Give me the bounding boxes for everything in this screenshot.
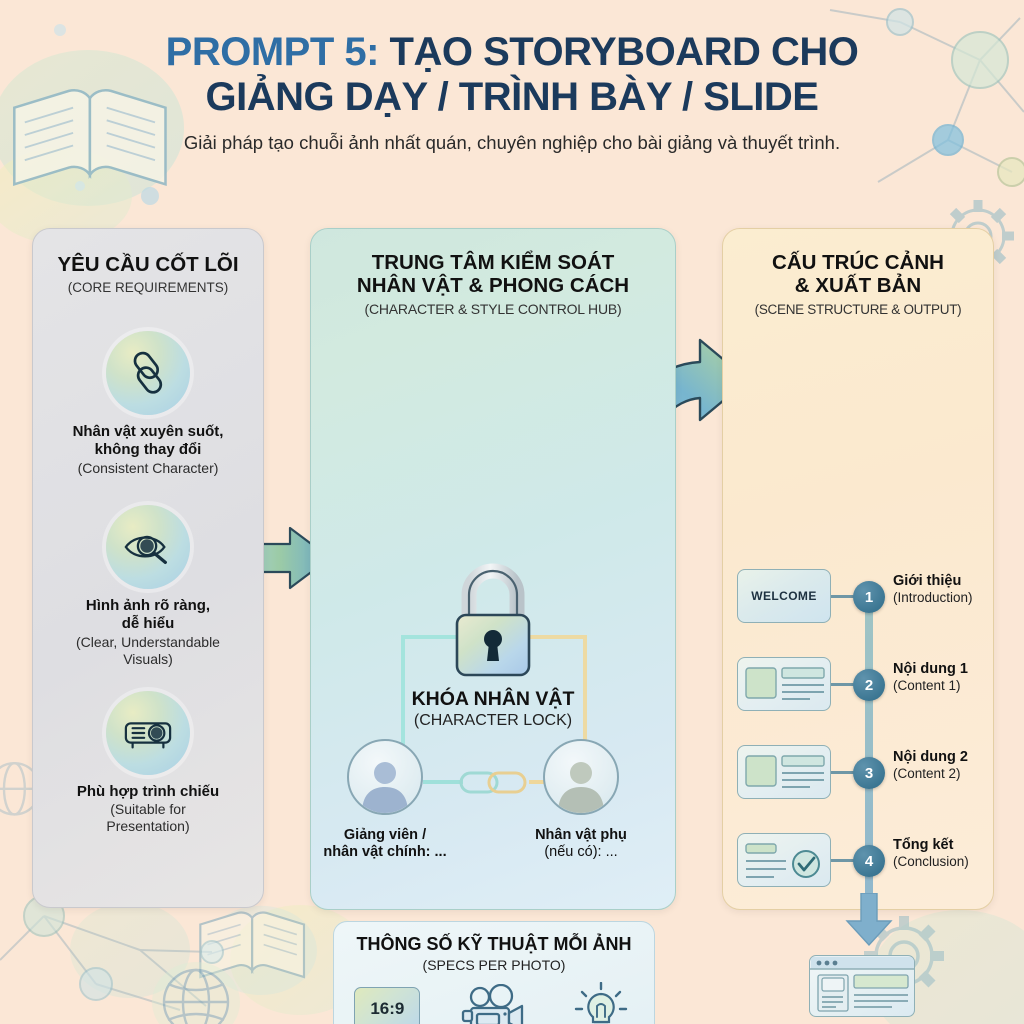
requirement-item-presentation[interactable]: Phù hợp trình chiếu (Suitable for Presen… bbox=[33, 691, 263, 835]
avatar[interactable] bbox=[543, 739, 619, 815]
timeline-label: Giới thiệu (Introduction) bbox=[893, 573, 1001, 605]
welcome-thumbnail-text: WELCOME bbox=[751, 589, 816, 603]
requirement-item-consistent-character[interactable]: Nhân vật xuyên suốt, không thay đổi (Con… bbox=[33, 331, 263, 477]
timeline-label: Tổng kết (Conclusion) bbox=[893, 837, 1001, 869]
page-title-line1: PROMPT 5: TẠO STORYBOARD CHO bbox=[0, 30, 1024, 75]
character-lock-block: KHÓA NHÂN VẬT (CHARACTER LOCK) bbox=[311, 561, 675, 730]
timeline-down-arrow-icon bbox=[839, 893, 899, 947]
timeline-label: Nội dung 1 (Content 1) bbox=[893, 661, 1001, 693]
timeline-step-number: 4 bbox=[853, 845, 885, 877]
core-requirements-panel: YÊU CẦU CỐT LÕI (CORE REQUIREMENTS) Nhân… bbox=[32, 228, 264, 908]
right-panel-title-line2: & XUẤT BẢN bbox=[723, 274, 993, 297]
spec-item-style[interactable]: Phong cách cinematic – clean – dễ đọc bbox=[441, 981, 548, 1024]
requirement-label-vi-2: không thay đổi bbox=[33, 441, 263, 459]
center-panel-subtitle: (CHARACTER & STYLE CONTROL HUB) bbox=[311, 302, 675, 318]
spec-item-aspect-ratio[interactable]: 16:9 16:9 (Landscape) bbox=[334, 981, 441, 1024]
timeline-label-en: (Conclusion) bbox=[893, 854, 1001, 870]
header: PROMPT 5: TẠO STORYBOARD CHO GIẢNG DẠY /… bbox=[0, 30, 1024, 154]
timeline-label-vi: Tổng kết bbox=[893, 837, 1001, 854]
timeline-label-en: (Introduction) bbox=[893, 590, 1001, 606]
character-caption-secondary-line1: Nhân vật phụ bbox=[501, 827, 661, 844]
checkmark-layout-icon bbox=[738, 834, 831, 887]
content-slide-thumbnail bbox=[737, 657, 831, 711]
person-avatar-icon bbox=[355, 753, 415, 813]
specs-per-photo-box: THÔNG SỐ KỸ THUẬT MỖI ẢNH (SPECS PER PHO… bbox=[333, 921, 655, 1024]
person-avatar-icon bbox=[551, 753, 611, 813]
right-panel-title-line1: CẤU TRÚC CẢNH bbox=[723, 251, 993, 274]
specs-subtitle: (SPECS PER PHOTO) bbox=[334, 957, 654, 973]
browser-window-icon bbox=[809, 955, 915, 1017]
character-caption-main: Giảng viên / nhân vật chính: ... bbox=[305, 827, 465, 862]
requirement-label-vi-1: Hình ảnh rõ ràng, bbox=[33, 597, 263, 615]
requirement-label-vi-1: Nhân vật xuyên suốt, bbox=[33, 423, 263, 441]
character-lock-label-en: (CHARACTER LOCK) bbox=[311, 712, 675, 730]
right-panel-subtitle: (SCENE STRUCTURE & OUTPUT) bbox=[723, 302, 993, 317]
content-layout-icon bbox=[738, 746, 831, 799]
eye-magnifier-icon bbox=[106, 505, 190, 589]
aspect-ratio-badge: 16:9 bbox=[354, 987, 420, 1024]
specs-title: THÔNG SỐ KỸ THUẬT MỖI ẢNH bbox=[334, 934, 654, 955]
requirement-label-en-2: Presentation) bbox=[33, 818, 263, 835]
character-style-control-hub-panel: TRUNG TÂM KIỂM SOÁT NHÂN VẬT & PHONG CÁC… bbox=[310, 228, 676, 910]
movie-camera-icon bbox=[441, 981, 548, 1024]
page-subtitle: Giải pháp tạo chuỗi ảnh nhất quán, chuyê… bbox=[0, 132, 1024, 154]
avatar[interactable] bbox=[347, 739, 423, 815]
timeline-label-en: (Content 1) bbox=[893, 678, 1001, 694]
center-panel-title-line2: NHÂN VẬT & PHONG CÁCH bbox=[311, 274, 675, 297]
page-title-accent: PROMPT 5: bbox=[166, 30, 379, 74]
timeline-label: Nội dung 2 (Content 2) bbox=[893, 749, 1001, 781]
requirement-item-clear-visuals[interactable]: Hình ảnh rõ ràng, dễ hiểu (Clear, Unders… bbox=[33, 505, 263, 668]
requirement-label-vi-1: Phù hợp trình chiếu bbox=[33, 783, 263, 801]
character-caption-secondary-line2: (nếu có): ... bbox=[501, 844, 661, 861]
character-caption-main-line2: nhân vật chính: ... bbox=[305, 844, 465, 861]
scene-structure-output-panel: CẤU TRÚC CẢNH & XUẤT BẢN (SCENE STRUCTUR… bbox=[722, 228, 994, 910]
content-slide-thumbnail bbox=[737, 745, 831, 799]
left-panel-subtitle: (CORE REQUIREMENTS) bbox=[33, 280, 263, 295]
timeline-step-number: 2 bbox=[853, 669, 885, 701]
timeline-step-number: 1 bbox=[853, 581, 885, 613]
requirement-label-en-1: (Suitable for bbox=[33, 801, 263, 818]
timeline-label-vi: Giới thiệu bbox=[893, 573, 1001, 590]
character-caption-main-line1: Giảng viên / bbox=[305, 827, 465, 844]
lightbulb-icon bbox=[547, 981, 654, 1024]
timeline-item-content-1[interactable]: 2 Nội dung 1 (Content 1) bbox=[737, 657, 985, 713]
content-layout-icon bbox=[738, 658, 831, 711]
left-panel-title: YÊU CẦU CỐT LÕI bbox=[33, 253, 263, 276]
padlock-icon bbox=[441, 561, 545, 683]
character-caption-secondary: Nhân vật phụ (nếu có): ... bbox=[501, 827, 661, 862]
requirement-label-en-1: (Clear, Understandable bbox=[33, 634, 263, 651]
requirement-label-en-2: Visuals) bbox=[33, 651, 263, 668]
character-lock-label-vi: KHÓA NHÂN VẬT bbox=[311, 688, 675, 711]
welcome-slide-thumbnail: WELCOME bbox=[737, 569, 831, 623]
timeline-item-content-2[interactable]: 3 Nội dung 2 (Content 2) bbox=[737, 745, 985, 801]
center-panel-title-line1: TRUNG TÂM KIỂM SOÁT bbox=[311, 251, 675, 274]
chain-link-icon bbox=[106, 331, 190, 415]
timeline-label-en: (Content 2) bbox=[893, 766, 1001, 782]
timeline-label-vi: Nội dung 1 bbox=[893, 661, 1001, 678]
requirement-label-en: (Consistent Character) bbox=[33, 460, 263, 477]
spec-item-sharp-image[interactable]: Hình ảnh rõ nét bbox=[547, 981, 654, 1024]
timeline-label-vi: Nội dung 2 bbox=[893, 749, 1001, 766]
page-title-line2: GIẢNG DẠY / TRÌNH BÀY / SLIDE bbox=[0, 75, 1024, 120]
projector-icon bbox=[106, 691, 190, 775]
conclusion-slide-thumbnail bbox=[737, 833, 831, 887]
page-title-rest: TẠO STORYBOARD CHO bbox=[379, 30, 858, 74]
timeline-step-number: 3 bbox=[853, 757, 885, 789]
timeline-item-conclusion[interactable]: 4 Tổng kết (Conclusion) bbox=[737, 833, 985, 889]
requirement-label-vi-2: dễ hiểu bbox=[33, 615, 263, 633]
timeline-item-introduction[interactable]: WELCOME 1 Giới thiệu (Introduction) bbox=[737, 569, 985, 625]
aspect-ratio-box-icon: 16:9 bbox=[334, 981, 441, 1024]
